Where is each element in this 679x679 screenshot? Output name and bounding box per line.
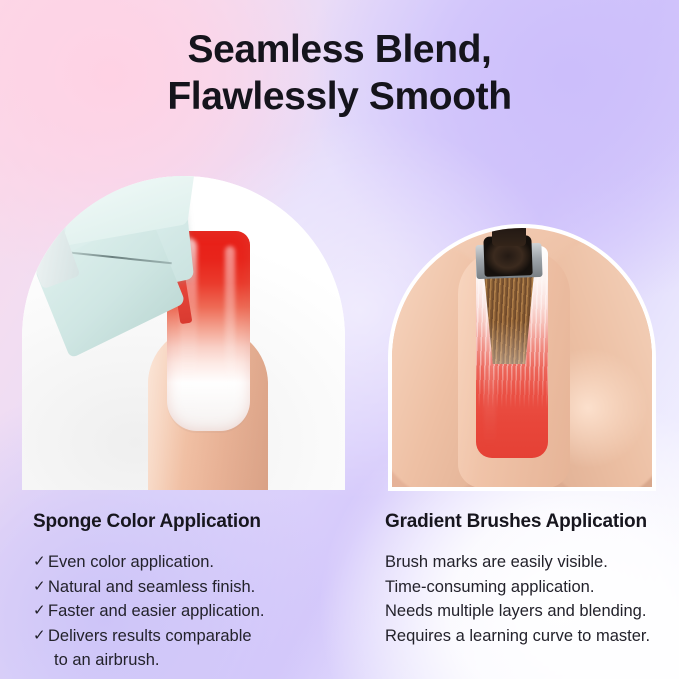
list-item-continuation: to an airbrush.	[33, 648, 333, 673]
check-icon: ✓	[33, 550, 48, 575]
brush-drawback-list: Brush marks are easily visible. Time-con…	[385, 550, 675, 648]
sponge-heading: Sponge Color Application	[33, 511, 261, 533]
list-item: Needs multiple layers and blending.	[385, 599, 675, 624]
list-item-label: Even color application.	[48, 550, 214, 575]
list-item: ✓ Faster and easier application.	[33, 599, 333, 624]
list-item: ✓ Even color application.	[33, 550, 333, 575]
sponge-photo-panel	[22, 176, 345, 490]
list-item-label: Delivers results comparable	[48, 624, 252, 649]
page-title-line-1: Seamless Blend,	[188, 28, 492, 71]
page-title-line-2: Flawlessly Smooth	[0, 73, 679, 120]
brush-heading: Gradient Brushes Application	[385, 511, 647, 533]
list-item-label: Natural and seamless finish.	[48, 575, 255, 600]
brush-photo-panel	[392, 228, 652, 487]
page-title: Seamless Blend, Flawlessly Smooth	[0, 26, 679, 120]
brush-handle	[492, 228, 526, 246]
list-item: Requires a learning curve to master.	[385, 624, 675, 649]
check-icon: ✓	[33, 599, 48, 624]
check-icon: ✓	[33, 624, 48, 649]
nail-tip-shadow	[167, 381, 250, 433]
list-item-label: Faster and easier application.	[48, 599, 264, 624]
brush-photo	[392, 228, 652, 487]
list-item: Time-consuming application.	[385, 575, 675, 600]
sponge-benefit-list: ✓ Even color application. ✓ Natural and …	[33, 550, 333, 673]
list-item: Brush marks are easily visible.	[385, 550, 675, 575]
sponge-photo	[22, 176, 345, 490]
list-item: ✓ Delivers results comparable	[33, 624, 333, 649]
list-item: ✓ Natural and seamless finish.	[33, 575, 333, 600]
promo-graphic: Seamless Blend, Flawlessly Smooth	[0, 0, 679, 679]
check-icon: ✓	[33, 575, 48, 600]
